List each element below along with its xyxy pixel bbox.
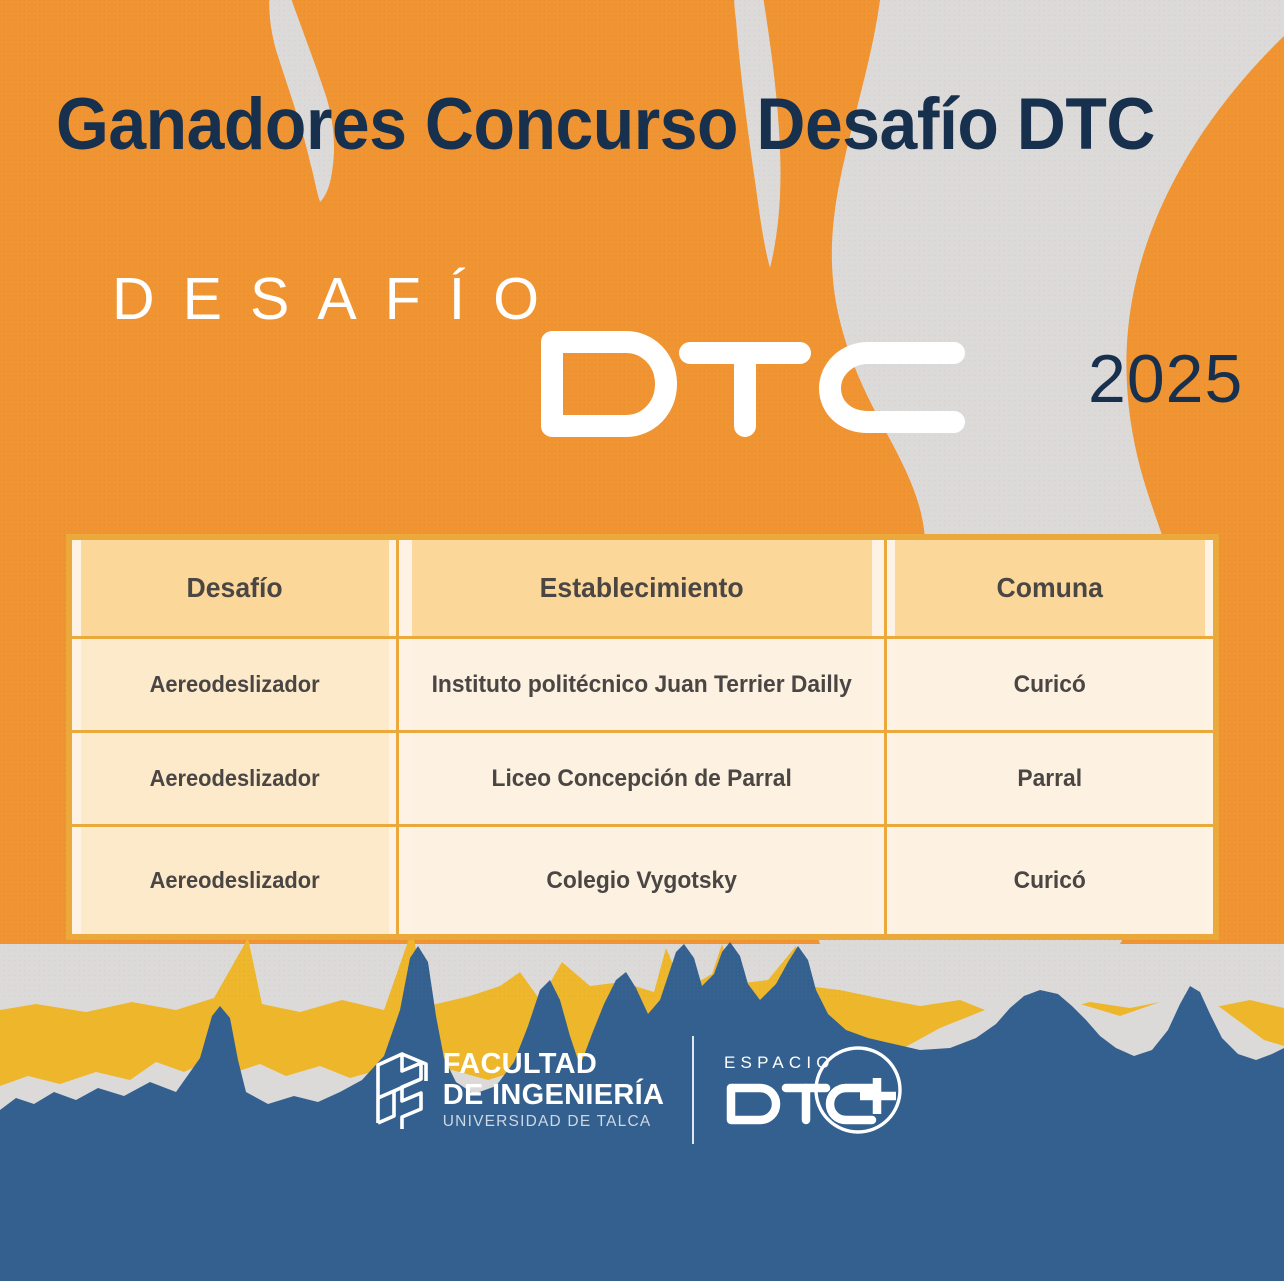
cell-establecimiento: Liceo Concepción de Parral	[410, 732, 873, 826]
column-header-comuna: Comuna	[893, 539, 1206, 638]
winners-table-wrapper: Desafío Establecimiento Comuna Aereodesl…	[69, 537, 1216, 937]
column-header-establecimiento: Establecimiento	[410, 539, 873, 638]
cell-establecimiento: Instituto politécnico Juan Terrier Daill…	[410, 638, 873, 732]
table-row: Aereodeslizador Instituto politécnico Ju…	[71, 638, 1215, 732]
footer-divider	[692, 1036, 694, 1144]
desafio-wordmark: DESAFÍO	[112, 265, 567, 333]
column-header-desafio: Desafío	[79, 539, 390, 638]
cell-comuna: Parral	[893, 732, 1206, 826]
faculty-line-1: FACULTAD	[443, 1050, 664, 1079]
table-header-row: Desafío Establecimiento Comuna	[71, 539, 1215, 638]
dtc-logo-icon	[538, 330, 968, 440]
table-row: Aereodeslizador Liceo Concepción de Parr…	[71, 732, 1215, 826]
faculty-line-3: UNIVERSIDAD DE TALCA	[443, 1114, 664, 1130]
cell-desafio: Aereodeslizador	[79, 732, 390, 826]
cell-desafio: Aereodeslizador	[79, 826, 390, 936]
espacio-dtc-plus-icon: ESPACIO	[722, 1042, 912, 1138]
cell-desafio: Aereodeslizador	[79, 638, 390, 732]
cell-comuna: Curicó	[893, 638, 1206, 732]
cell-establecimiento: Colegio Vygotsky	[410, 826, 873, 936]
faculty-logo: FACULTAD DE INGENIERÍA UNIVERSIDAD DE TA…	[372, 1050, 664, 1130]
winners-table: Desafío Establecimiento Comuna Aereodesl…	[69, 537, 1216, 937]
fi-monogram-icon	[372, 1051, 430, 1129]
faculty-line-2: DE INGENIERÍA	[443, 1081, 664, 1110]
page-title: Ganadores Concurso Desafío DTC	[56, 88, 1153, 161]
year-label: 2025	[1088, 340, 1243, 418]
footer-logos: FACULTAD DE INGENIERÍA UNIVERSIDAD DE TA…	[0, 1010, 1284, 1170]
cell-comuna: Curicó	[893, 826, 1206, 936]
table-row: Aereodeslizador Colegio Vygotsky Curicó	[71, 826, 1215, 936]
svg-text:ESPACIO: ESPACIO	[724, 1053, 835, 1072]
poster-canvas: Ganadores Concurso Desafío DTC DESAFÍO 2…	[0, 0, 1284, 1281]
